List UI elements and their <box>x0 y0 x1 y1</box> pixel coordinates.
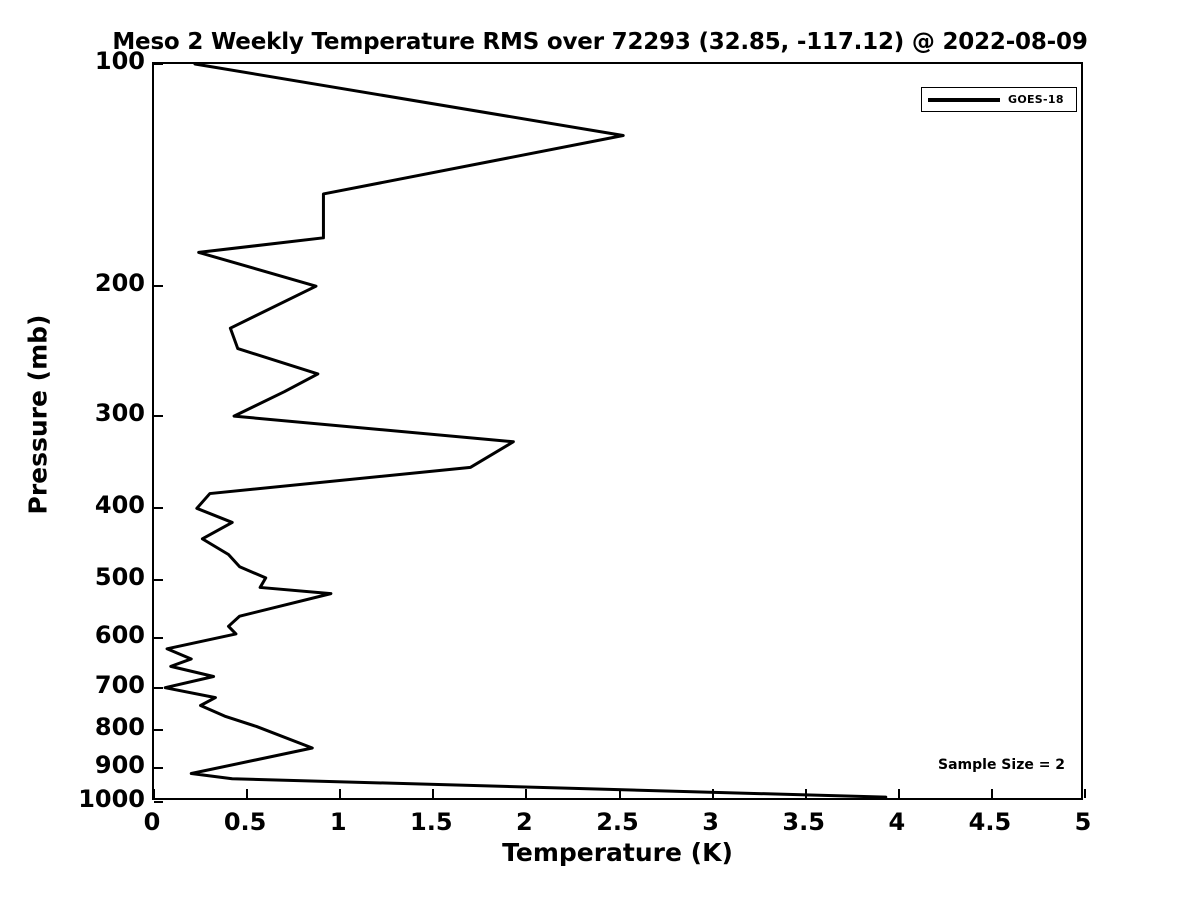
x-tick-mark <box>153 789 155 798</box>
x-tick-mark <box>246 789 248 798</box>
x-tick-label: 2 <box>484 810 564 834</box>
x-tick-label: 2.5 <box>578 810 658 834</box>
y-tick-mark <box>154 767 163 769</box>
x-tick-mark <box>712 789 714 798</box>
x-tick-mark <box>432 789 434 798</box>
x-tick-mark <box>339 789 341 798</box>
series-line-goes-18 <box>165 64 886 797</box>
x-tick-label: 3 <box>671 810 751 834</box>
y-tick-label: 500 <box>0 565 145 589</box>
sample-size-annotation: Sample Size = 2 <box>938 757 1065 773</box>
y-tick-label: 900 <box>0 753 145 777</box>
x-tick-label: 3.5 <box>764 810 844 834</box>
x-tick-mark <box>805 789 807 798</box>
y-tick-label: 300 <box>0 401 145 425</box>
x-tick-label: 0.5 <box>205 810 285 834</box>
y-tick-label: 400 <box>0 493 145 517</box>
x-tick-mark <box>898 789 900 798</box>
y-tick-label: 800 <box>0 715 145 739</box>
legend-label-goes-18: GOES-18 <box>1008 93 1064 106</box>
data-series-canvas <box>154 64 1085 802</box>
y-tick-label: 700 <box>0 673 145 697</box>
y-tick-mark <box>154 801 163 803</box>
x-tick-label: 1 <box>298 810 378 834</box>
x-tick-mark <box>991 789 993 798</box>
y-tick-mark <box>154 285 163 287</box>
x-tick-label: 1.5 <box>391 810 471 834</box>
page-title: Meso 2 Weekly Temperature RMS over 72293… <box>0 29 1200 55</box>
legend-swatch-goes-18 <box>928 98 1000 102</box>
x-tick-label: 4 <box>857 810 937 834</box>
x-tick-mark <box>1084 789 1086 798</box>
y-tick-mark <box>154 687 163 689</box>
y-tick-mark <box>154 507 163 509</box>
x-tick-mark <box>525 789 527 798</box>
x-tick-mark <box>619 789 621 798</box>
y-tick-label: 100 <box>0 49 145 73</box>
y-tick-mark <box>154 579 163 581</box>
x-axis-label: Temperature (K) <box>152 838 1083 867</box>
y-tick-mark <box>154 63 163 65</box>
legend: GOES-18 <box>921 87 1077 112</box>
y-tick-label: 1000 <box>0 787 145 811</box>
y-tick-label: 200 <box>0 271 145 295</box>
y-tick-label: 600 <box>0 623 145 647</box>
y-tick-mark <box>154 637 163 639</box>
x-tick-label: 0 <box>112 810 192 834</box>
plot-area <box>152 62 1083 800</box>
y-tick-mark <box>154 415 163 417</box>
x-tick-label: 5 <box>1043 810 1123 834</box>
x-tick-label: 4.5 <box>950 810 1030 834</box>
chart-page: Meso 2 Weekly Temperature RMS over 72293… <box>0 0 1200 900</box>
y-tick-mark <box>154 729 163 731</box>
